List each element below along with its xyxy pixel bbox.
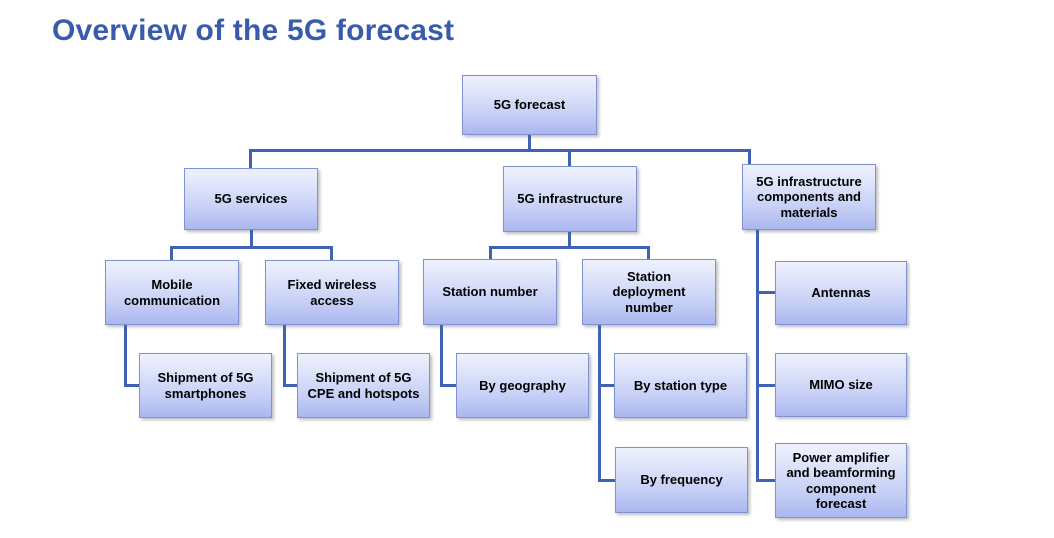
node-power-amplifier-and-beamforming-component-forecast[interactable]: Power amplifier and beamforming componen… [775,443,907,518]
connector-components-to-power-amp [756,479,777,482]
connector-root-to-services [249,149,252,169]
node-label: 5G forecast [494,97,566,112]
node-label: MIMO size [809,377,873,392]
node-label: Power amplifier and beamforming componen… [786,450,895,511]
connector-station-number-drop [440,325,443,387]
connector-fwa-drop [283,325,286,387]
slide-canvas: Overview of the 5G forecast [0,0,1054,538]
node-shipment-of-5g-cpe-and-hotspots[interactable]: Shipment of 5G CPE and hotspots [297,353,430,418]
connector-components-to-antennas [756,291,777,294]
connector-root-to-components [748,149,751,165]
node-station-deployment-number[interactable]: Station deployment number [582,259,716,325]
node-5g-services[interactable]: 5G services [184,168,318,230]
node-5g-infrastructure[interactable]: 5G infrastructure [503,166,637,232]
node-label: 5G services [214,191,287,206]
connector-station-deploy-spine [598,325,601,482]
node-label: 5G infrastructure [517,191,622,206]
node-label: Antennas [811,285,870,300]
node-by-station-type[interactable]: By station type [614,353,747,418]
connector-root-bus [249,149,751,152]
node-5g-infrastructure-components-and-materials[interactable]: 5G infrastructure components and materia… [742,164,876,230]
connector-mobile-drop [124,325,127,387]
node-5g-forecast[interactable]: 5G forecast [462,75,597,135]
node-label: Station number [442,284,537,299]
node-label: Shipment of 5G CPE and hotspots [308,370,420,401]
connector-components-spine [756,230,759,482]
node-label: Shipment of 5G smartphones [157,370,253,401]
node-mimo-size[interactable]: MIMO size [775,353,907,417]
node-label: By frequency [640,472,722,487]
node-label: Mobile communication [124,277,220,308]
node-by-geography[interactable]: By geography [456,353,589,418]
node-mobile-communication[interactable]: Mobile communication [105,260,239,325]
node-label: Fixed wireless access [288,277,377,308]
connector-services-bus [170,246,333,249]
connector-infrastructure-to-station-number [489,246,492,259]
connector-infrastructure-bus [489,246,650,249]
connector-infrastructure-to-station-deploy [647,246,650,259]
connector-components-to-mimo [756,384,777,387]
node-label: 5G infrastructure components and materia… [756,174,861,220]
connector-services-to-mobile [170,246,173,261]
connector-root-to-infrastructure [568,149,571,166]
node-antennas[interactable]: Antennas [775,261,907,325]
node-label: Station deployment number [613,269,686,315]
node-label: By geography [479,378,566,393]
node-by-frequency[interactable]: By frequency [615,447,748,513]
node-shipment-of-5g-smartphones[interactable]: Shipment of 5G smartphones [139,353,272,418]
node-label: By station type [634,378,727,393]
node-fixed-wireless-access[interactable]: Fixed wireless access [265,260,399,325]
connector-services-to-fwa [330,246,333,261]
node-station-number[interactable]: Station number [423,259,557,325]
